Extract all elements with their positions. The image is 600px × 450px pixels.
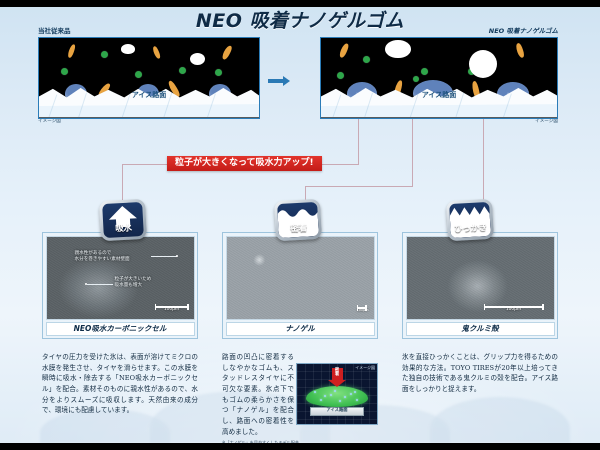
scale-bar-label: 100μm xyxy=(357,309,369,312)
sem-photo-nanogel: 100μm xyxy=(226,236,375,320)
connector-line xyxy=(305,186,413,187)
photo-caption: NEO吸水カーボニックセル xyxy=(46,322,195,336)
inset-arrow-label: 密着 xyxy=(335,369,340,378)
inset-diagram-micchaku: イメージ図 密着 アイス路面 xyxy=(296,363,378,425)
column-body: 氷を直接ひっかくことは、グリップ力を得るための効果的な方法。TOYO TIRES… xyxy=(402,352,558,395)
ice-road-label-right: アイス路面 xyxy=(422,90,456,100)
badge-hikkaki[interactable]: ひっかき xyxy=(446,199,494,241)
right-arrow-icon xyxy=(268,76,292,86)
inset-road-label: アイス路面 xyxy=(326,409,347,413)
down-arrow-icon: 密着 xyxy=(328,368,346,387)
walnut-flake xyxy=(338,42,349,58)
text-column-micchaku: 路面の凹凸に密着するしなやかなゴムも、スタッドレスタイヤに不可欠な要素。氷点下で… xyxy=(222,352,378,442)
badge-micchaku-label: 密着 xyxy=(290,224,307,237)
badge-micchaku[interactable]: 密着 xyxy=(274,199,322,241)
photo-annotation: 親水性があるので水分を巻きやすい素材壁面 xyxy=(75,251,130,263)
photo-card-nanogel: 100μm ナノゲル xyxy=(222,232,378,339)
text-column-hikkaki: 氷を直接ひっかくことは、グリップ力を得るための効果的な方法。TOYO TIRES… xyxy=(402,352,558,395)
scale-bar: 100μm xyxy=(357,307,369,312)
diagram-conventional-note: イメージ図 xyxy=(38,120,260,125)
connector-line xyxy=(122,164,168,165)
photo-card-walnut-shell: 100μm 鬼クルミ殻 xyxy=(402,232,558,339)
sem-photo-walnut-shell: 100μm xyxy=(406,236,555,320)
walnut-flake xyxy=(221,44,233,60)
letterbox-bottom xyxy=(0,443,600,450)
inset-road-bar: アイス路面 xyxy=(310,407,364,416)
walnut-flake xyxy=(152,45,162,59)
badge-kyusui[interactable]: 吸水 xyxy=(99,199,147,241)
walnut-flake xyxy=(67,43,76,58)
inset-gel-body xyxy=(306,386,368,407)
scale-bar: 100μm xyxy=(484,306,544,312)
sem-photo-carbonic-cell: 親水性があるので水分を巻きやすい素材壁面 粒子が大きいため吸水量も増大 100μ… xyxy=(46,236,195,320)
badge-hikkaki-label: ひっかき xyxy=(454,224,487,238)
page-title: NEO 吸着ナノゲルゴム xyxy=(0,6,600,33)
text-column-kyusui: タイヤの圧力を受けた氷は、表面が溶けてミクロの水膜を発生させ、タイヤを滑らせます… xyxy=(42,352,198,416)
scale-bar-label: 100μm xyxy=(155,308,189,312)
ice-road-label-left: アイス路面 xyxy=(132,90,166,100)
photo-caption: 鬼クルミ殻 xyxy=(406,322,555,336)
scale-bar: 100μm xyxy=(155,306,189,312)
diagram-neo-note: イメージ図 xyxy=(320,120,558,125)
photo-annotation: 粒子が大きいため吸水量も増大 xyxy=(115,277,152,289)
letterbox-top xyxy=(0,0,600,7)
diagram-neo-box: アイス路面 xyxy=(320,37,558,119)
photo-caption: ナノゲル xyxy=(226,322,375,336)
diagram-conventional: 当社従来品 xyxy=(38,28,260,124)
inset-label: イメージ図 xyxy=(355,365,375,371)
column-body: タイヤの圧力を受けた氷は、表面が溶けてミクロの水膜を発生させ、タイヤを滑らせます… xyxy=(42,352,198,416)
column-body: 路面の凹凸に密着するしなやかなゴムも、スタッドレスタイヤに不可欠な要素。氷点下で… xyxy=(222,352,294,437)
badge-kyusui-label: 吸水 xyxy=(115,224,132,237)
highlight-banner: 粒子が大きくなって吸水力アップ! xyxy=(167,156,322,171)
connector-line xyxy=(122,164,123,202)
walnut-flake xyxy=(515,42,526,58)
diagram-conventional-box: アイス路面 xyxy=(38,37,260,119)
diagram-neo: NEO 吸着ナノゲルゴム xyxy=(320,28,558,124)
scale-bar-label: 100μm xyxy=(484,308,544,312)
poster-root: NEO 吸着ナノゲルゴム 当社従来品 xyxy=(0,0,600,450)
photo-card-carbonic-cell: 親水性があるので水分を巻きやすい素材壁面 粒子が大きいため吸水量も増大 100μ… xyxy=(42,232,198,339)
